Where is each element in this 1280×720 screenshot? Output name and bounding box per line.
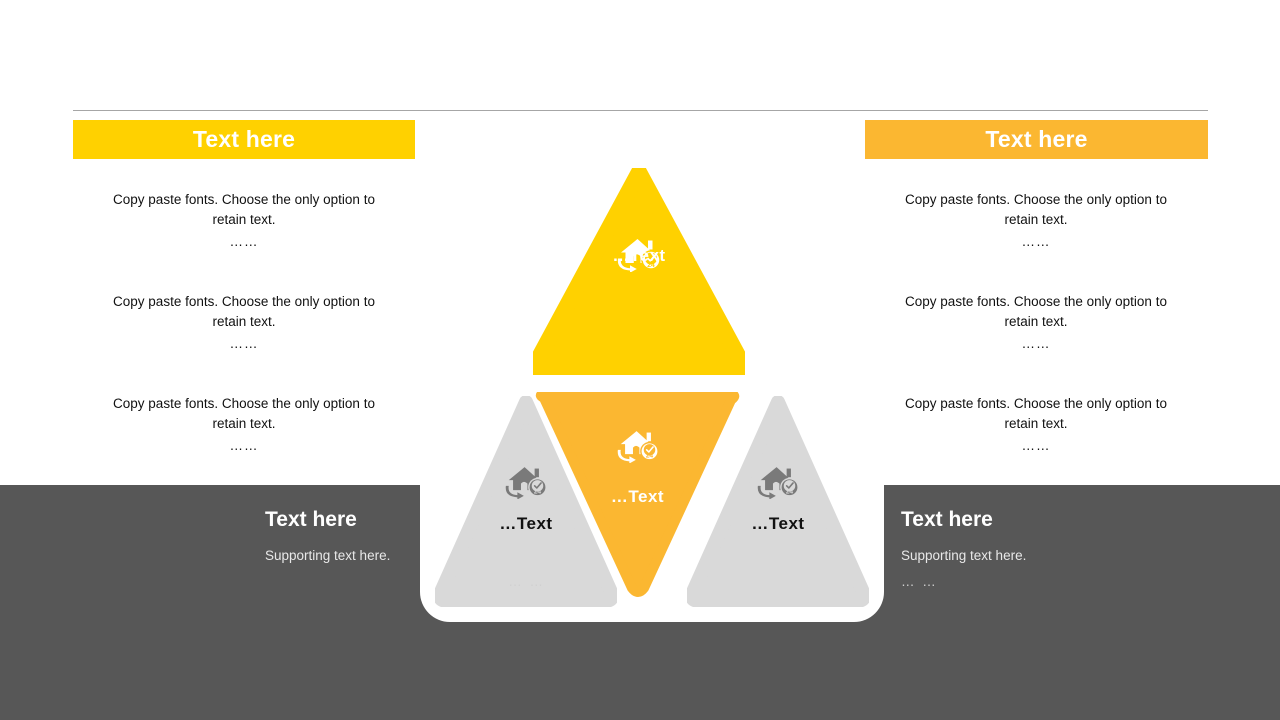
left-caption-dots: … … bbox=[265, 572, 555, 592]
left-paragraph-block-2: Copy paste fonts. Choose the only option… bbox=[73, 292, 415, 394]
left-paragraph-block-1: Copy paste fonts. Choose the only option… bbox=[73, 190, 415, 292]
left-paragraph-dots-3: …… bbox=[73, 434, 415, 458]
right-caption-block: Text here Supporting text here. … … bbox=[901, 508, 1191, 592]
right-caption-dots: … … bbox=[901, 572, 1191, 592]
left-text-column: Copy paste fonts. Choose the only option… bbox=[73, 190, 415, 496]
right-paragraph-block-3: Copy paste fonts. Choose the only option… bbox=[865, 394, 1207, 496]
right-header-bar[interactable]: Text here bbox=[865, 120, 1208, 159]
right-paragraph-block-2: Copy paste fonts. Choose the only option… bbox=[865, 292, 1207, 394]
triangle-bottom-center-shape bbox=[534, 392, 741, 597]
right-paragraph-body-1: Copy paste fonts. Choose the only option… bbox=[865, 190, 1207, 230]
right-caption-title: Text here bbox=[901, 508, 1191, 532]
right-paragraph-dots-1: …… bbox=[865, 230, 1207, 254]
left-caption-body: Supporting text here. bbox=[265, 546, 555, 566]
triangle-bottom-center[interactable]: 24 …Text bbox=[534, 392, 741, 597]
left-paragraph-body-1: Copy paste fonts. Choose the only option… bbox=[73, 190, 415, 230]
right-text-column: Copy paste fonts. Choose the only option… bbox=[865, 190, 1207, 496]
right-paragraph-block-1: Copy paste fonts. Choose the only option… bbox=[865, 190, 1207, 292]
triangle-top-shape bbox=[533, 168, 745, 375]
left-paragraph-block-3: Copy paste fonts. Choose the only option… bbox=[73, 394, 415, 496]
right-header-label: Text here bbox=[985, 126, 1087, 153]
triangle-top[interactable]: 24 …Text bbox=[533, 168, 745, 375]
left-paragraph-body-3: Copy paste fonts. Choose the only option… bbox=[73, 394, 415, 434]
left-paragraph-dots-2: …… bbox=[73, 332, 415, 356]
right-paragraph-body-3: Copy paste fonts. Choose the only option… bbox=[865, 394, 1207, 434]
top-divider-rule bbox=[73, 110, 1208, 111]
left-caption-block: Text here Supporting text here. … … bbox=[265, 508, 555, 592]
right-paragraph-body-2: Copy paste fonts. Choose the only option… bbox=[865, 292, 1207, 332]
left-caption-title: Text here bbox=[265, 508, 555, 532]
right-paragraph-dots-3: …… bbox=[865, 434, 1207, 458]
right-paragraph-dots-2: …… bbox=[865, 332, 1207, 356]
left-paragraph-body-2: Copy paste fonts. Choose the only option… bbox=[73, 292, 415, 332]
left-header-bar[interactable]: Text here bbox=[73, 120, 415, 159]
right-caption-body: Supporting text here. bbox=[901, 546, 1191, 566]
left-header-label: Text here bbox=[193, 126, 295, 153]
left-paragraph-dots-1: …… bbox=[73, 230, 415, 254]
